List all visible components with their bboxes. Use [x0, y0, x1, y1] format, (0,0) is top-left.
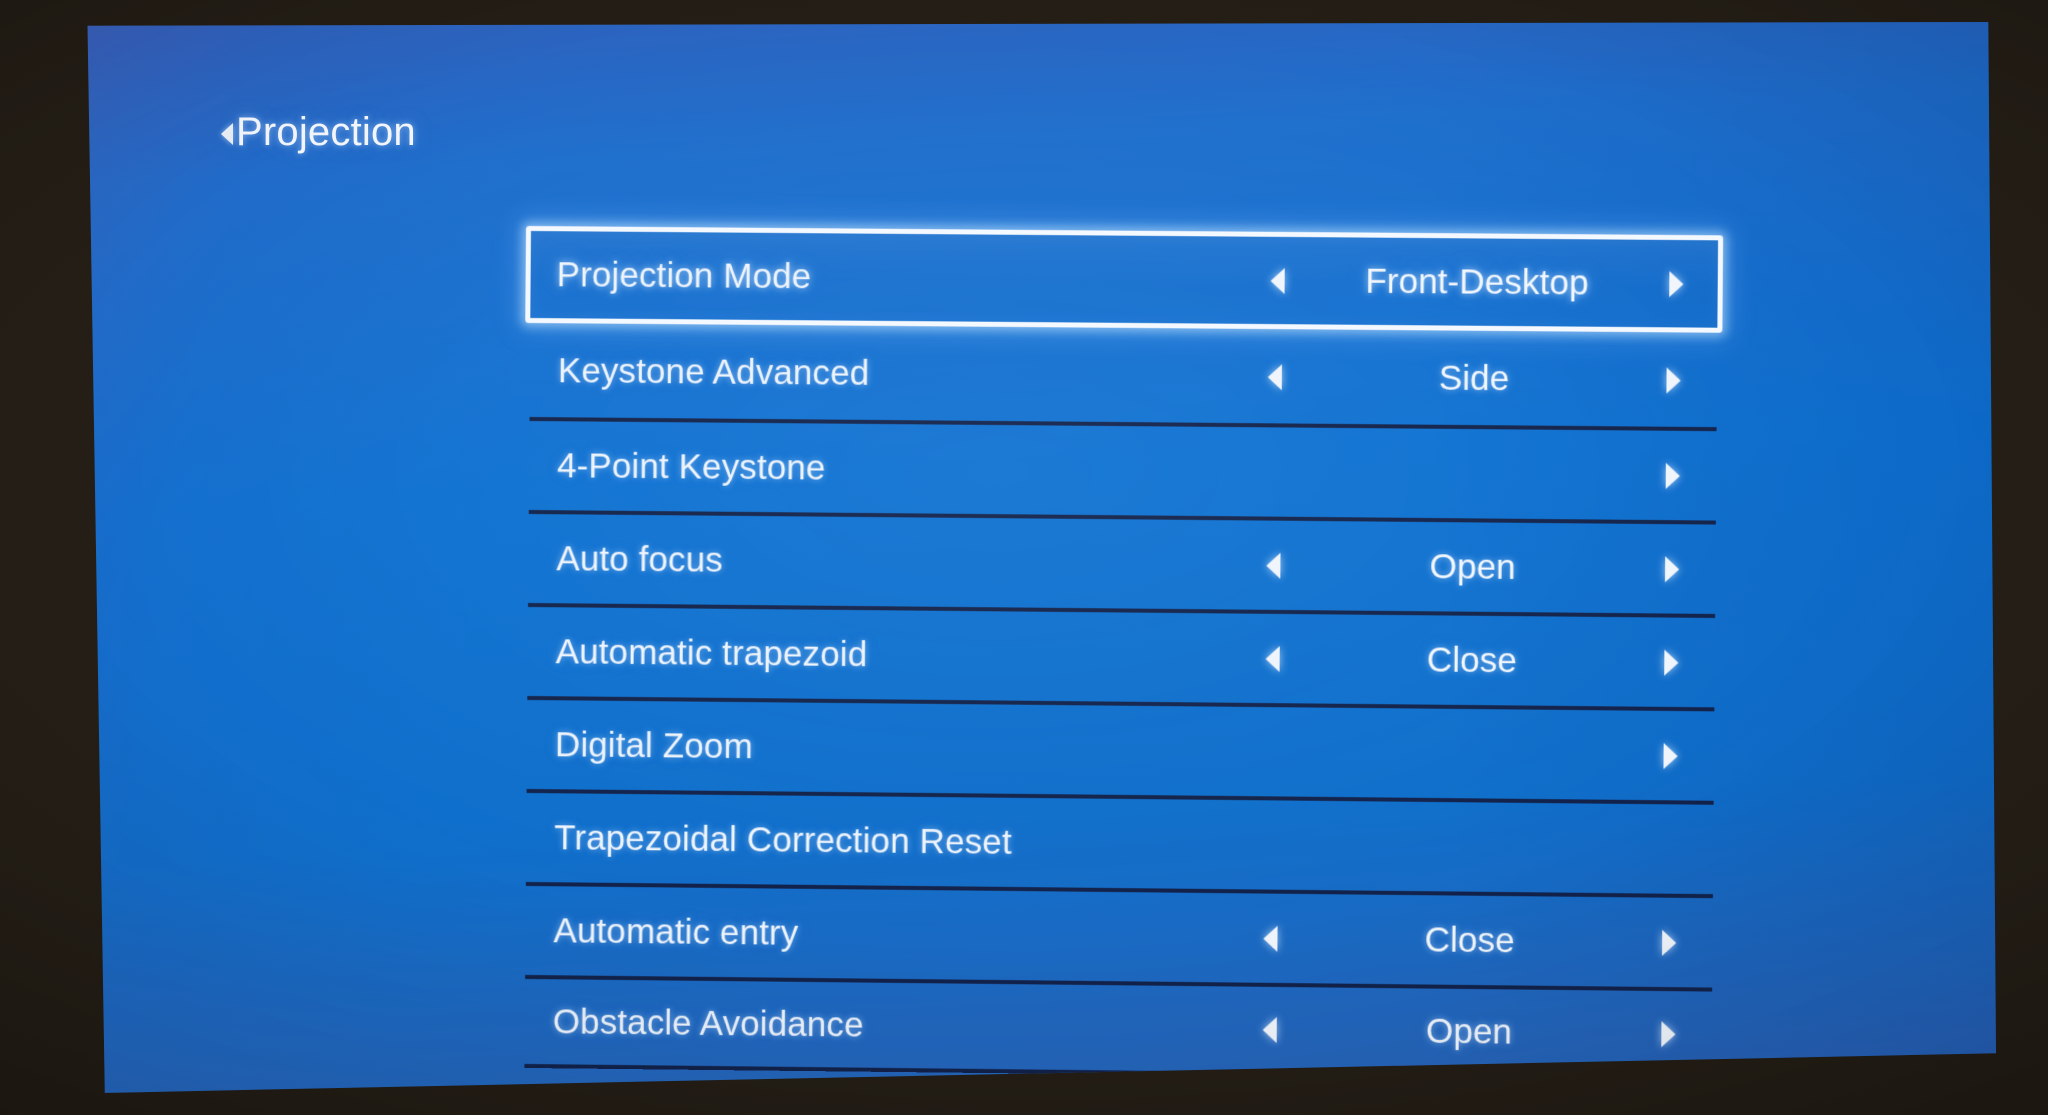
chevron-left-icon[interactable] — [1252, 1012, 1286, 1046]
back-caret-icon[interactable] — [221, 123, 233, 145]
menu-row-label: Automatic trapezoid — [556, 632, 868, 675]
menu-row[interactable]: Obstacle AvoidanceOpen — [524, 975, 1712, 1081]
menu-row-value: Side — [1292, 357, 1657, 400]
menu-row-label: 4-Point Keystone — [557, 446, 826, 488]
menu-row-label: Automatic entry — [553, 911, 798, 954]
chevron-left-icon — [1255, 735, 1289, 769]
menu-row[interactable]: Digital Zoom — [527, 696, 1715, 801]
chevron-right-icon[interactable] — [1654, 645, 1689, 679]
menu-row-control: Open — [1256, 545, 1689, 589]
projector-osd-screen: Projection Projection ModeFront-DesktopK… — [76, 22, 1996, 1094]
menu-row-value: Open — [1290, 545, 1655, 588]
menu-row-value — [1288, 845, 1652, 849]
chevron-right-icon[interactable] — [1652, 925, 1687, 959]
chevron-right-icon — [1653, 832, 1688, 866]
menu-row[interactable]: Automatic trapezoidClose — [527, 603, 1715, 707]
menu-row-label: Trapezoidal Correction Reset — [554, 818, 1012, 863]
chevron-left-icon — [1254, 828, 1288, 862]
menu-row-control — [1254, 828, 1687, 866]
menu-row-control: Close — [1255, 638, 1688, 682]
menu-row-value — [1289, 752, 1653, 756]
menu-row-label: Projection Mode — [556, 255, 811, 297]
menu-row-label: Obstacle Avoidance — [553, 1002, 864, 1045]
settings-menu-list: Projection ModeFront-DesktopKeystone Adv… — [524, 228, 1718, 1081]
chevron-left-icon[interactable] — [1258, 360, 1292, 394]
menu-row-control: Side — [1258, 357, 1691, 401]
chevron-right-icon[interactable] — [1655, 552, 1690, 586]
menu-row-label: Digital Zoom — [555, 725, 753, 767]
page-title: Projection — [236, 110, 416, 155]
menu-row-value: Front-Desktop — [1295, 261, 1660, 304]
menu-row-value: Open — [1287, 1010, 1652, 1054]
projected-screen-area: Projection Projection ModeFront-DesktopK… — [0, 0, 2048, 1115]
menu-row-label: Keystone Advanced — [558, 351, 870, 394]
menu-row-value — [1291, 472, 1655, 475]
menu-row-value: Close — [1287, 918, 1652, 962]
chevron-left-icon[interactable] — [1260, 263, 1294, 297]
menu-row[interactable]: Projection ModeFront-Desktop — [525, 226, 1723, 333]
menu-row-control — [1255, 735, 1688, 773]
menu-row-control — [1257, 455, 1690, 493]
chevron-right-icon[interactable] — [1659, 266, 1694, 300]
menu-row-control: Open — [1252, 1009, 1685, 1054]
chevron-right-icon[interactable] — [1651, 1017, 1686, 1052]
menu-row[interactable]: Auto focusOpen — [528, 510, 1716, 614]
breadcrumb[interactable]: Projection — [221, 110, 416, 155]
chevron-left-icon — [1257, 455, 1291, 489]
menu-row-label: Auto focus — [556, 539, 723, 581]
menu-row[interactable]: Automatic entryClose — [525, 882, 1713, 988]
menu-row[interactable]: Trapezoidal Correction Reset — [526, 789, 1714, 894]
chevron-left-icon[interactable] — [1256, 548, 1290, 582]
menu-row-control: Close — [1253, 918, 1686, 963]
menu-row-value: Close — [1290, 639, 1655, 683]
chevron-right-icon[interactable] — [1656, 363, 1691, 397]
chevron-left-icon[interactable] — [1253, 921, 1287, 955]
menu-row[interactable]: Keystone AdvancedSide — [530, 324, 1718, 427]
chevron-right-icon[interactable] — [1653, 738, 1688, 772]
menu-row-control: Front-Desktop — [1260, 260, 1693, 304]
chevron-right-icon[interactable] — [1656, 458, 1691, 492]
chevron-left-icon[interactable] — [1255, 641, 1289, 675]
menu-row[interactable]: 4-Point Keystone — [529, 417, 1717, 521]
